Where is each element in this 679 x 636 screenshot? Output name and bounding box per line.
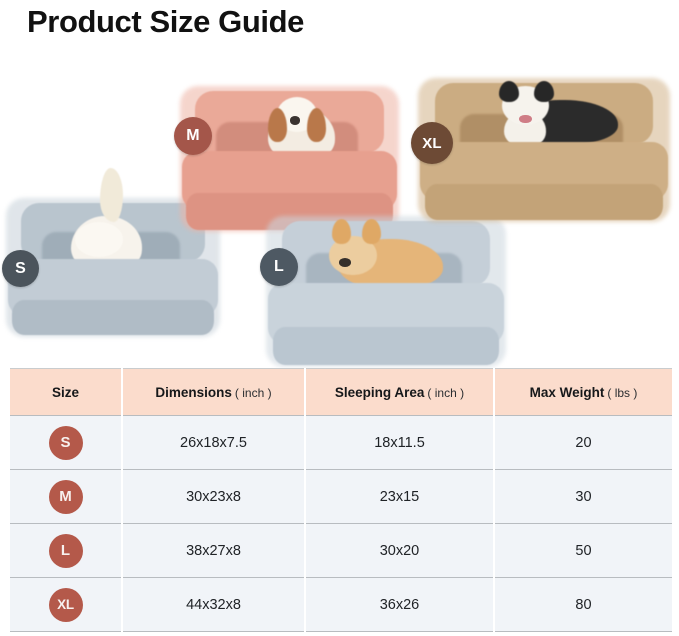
table-row: XL 44x32x8 36x26 80 bbox=[9, 578, 673, 632]
cell-dimensions: 38x27x8 bbox=[122, 524, 305, 578]
cell-dimensions: 44x32x8 bbox=[122, 578, 305, 632]
table-row: S 26x18x7.5 18x11.5 20 bbox=[9, 416, 673, 470]
column-header-size-label: Size bbox=[52, 385, 79, 400]
product-illustration-m: M bbox=[182, 88, 397, 230]
column-header-dimensions-unit: ( inch ) bbox=[235, 386, 272, 400]
column-header-max-weight-unit: ( lbs ) bbox=[607, 386, 637, 400]
column-header-sleeping-area-label: Sleeping Area bbox=[335, 385, 425, 400]
dog-ear-right-l bbox=[362, 219, 381, 244]
size-badge-xl: XL bbox=[411, 122, 453, 164]
product-illustration-xl: XL bbox=[420, 80, 668, 220]
cell-size: XL bbox=[9, 578, 122, 632]
cat-tail-s bbox=[100, 168, 123, 222]
cell-sleeping-area: 36x26 bbox=[305, 578, 494, 632]
cell-dimensions: 26x18x7.5 bbox=[122, 416, 305, 470]
dog-ear-right-m bbox=[307, 108, 326, 142]
column-header-sleeping-area: Sleeping Area( inch ) bbox=[305, 369, 494, 416]
cell-max-weight: 50 bbox=[494, 524, 673, 578]
size-badge-m: M bbox=[174, 117, 212, 155]
size-table-header: Size Dimensions( inch ) Sleeping Area( i… bbox=[9, 369, 673, 416]
product-photo-area: S M L bbox=[0, 55, 679, 355]
cat-head-s bbox=[75, 222, 123, 257]
row-size-badge-s: S bbox=[49, 426, 83, 460]
cell-dimensions: 30x23x8 bbox=[122, 470, 305, 524]
column-header-dimensions-label: Dimensions bbox=[155, 385, 232, 400]
dog-snout-m bbox=[290, 116, 301, 125]
product-size-guide-page: { "page": { "title": "Product Size Guide… bbox=[0, 0, 679, 636]
dog-snout-xl bbox=[519, 115, 531, 123]
table-row: M 30x23x8 23x15 30 bbox=[9, 470, 673, 524]
cell-sleeping-area: 18x11.5 bbox=[305, 416, 494, 470]
product-illustration-l: L bbox=[268, 218, 504, 365]
row-size-badge-l: L bbox=[49, 534, 83, 568]
column-header-max-weight-label: Max Weight bbox=[530, 385, 605, 400]
page-title: Product Size Guide bbox=[27, 2, 304, 42]
row-size-badge-xl: XL bbox=[49, 588, 83, 622]
row-size-badge-m: M bbox=[49, 480, 83, 514]
pet-bed-m bbox=[182, 88, 397, 230]
cell-max-weight: 80 bbox=[494, 578, 673, 632]
dog-ear-left-xl bbox=[499, 81, 519, 102]
table-row: L 38x27x8 30x20 50 bbox=[9, 524, 673, 578]
cell-size: M bbox=[9, 470, 122, 524]
cell-size: S bbox=[9, 416, 122, 470]
column-header-size: Size bbox=[9, 369, 122, 416]
cell-max-weight: 20 bbox=[494, 416, 673, 470]
size-badge-l: L bbox=[260, 248, 298, 286]
size-table: Size Dimensions( inch ) Sleeping Area( i… bbox=[8, 368, 674, 632]
cell-sleeping-area: 23x15 bbox=[305, 470, 494, 524]
dog-snout-l bbox=[339, 258, 351, 267]
column-header-dimensions: Dimensions( inch ) bbox=[122, 369, 305, 416]
dog-ear-left-l bbox=[332, 219, 351, 244]
cell-size: L bbox=[9, 524, 122, 578]
dog-ear-right-xl bbox=[534, 81, 554, 102]
pet-bed-xl bbox=[420, 80, 668, 220]
column-header-sleeping-area-unit: ( inch ) bbox=[427, 386, 464, 400]
size-badge-s: S bbox=[2, 250, 39, 287]
table-header-row: Size Dimensions( inch ) Sleeping Area( i… bbox=[9, 369, 673, 416]
cell-max-weight: 30 bbox=[494, 470, 673, 524]
size-table-body: S 26x18x7.5 18x11.5 20 M 30x23x8 23x15 3… bbox=[9, 416, 673, 632]
pet-bed-l bbox=[268, 218, 504, 365]
cell-sleeping-area: 30x20 bbox=[305, 524, 494, 578]
column-header-max-weight: Max Weight( lbs ) bbox=[494, 369, 673, 416]
